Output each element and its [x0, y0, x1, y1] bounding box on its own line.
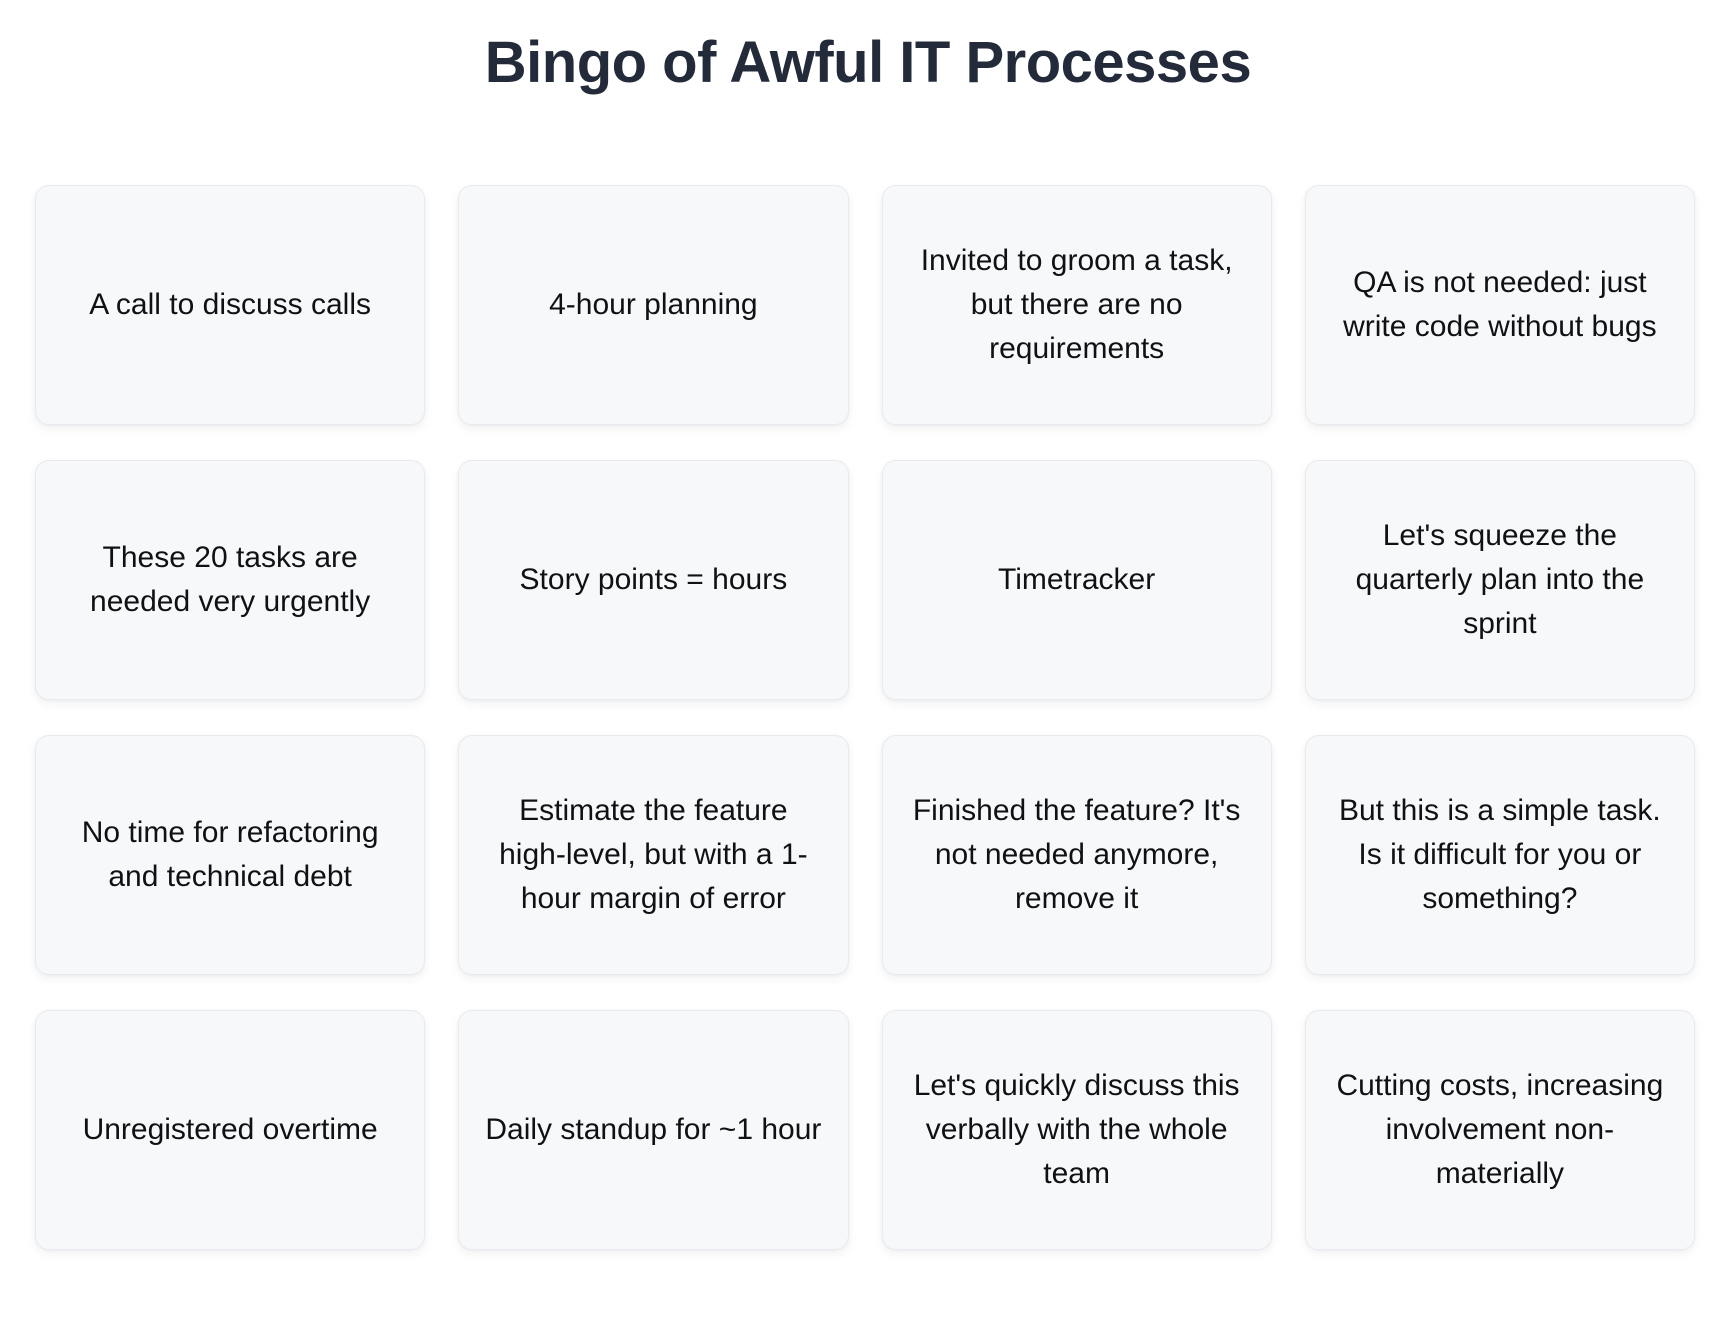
bingo-cell-label: Invited to groom a task, but there are n… — [909, 239, 1245, 370]
bingo-cell[interactable]: Cutting costs, increasing involvement no… — [1305, 1010, 1695, 1250]
bingo-grid: A call to discuss calls 4-hour planning … — [35, 185, 1695, 1250]
bingo-cell-label: Unregistered overtime — [62, 1108, 398, 1152]
bingo-cell-label: These 20 tasks are needed very urgently — [62, 536, 398, 624]
bingo-cell[interactable]: Daily standup for ~1 hour — [458, 1010, 848, 1250]
bingo-cell[interactable]: Timetracker — [882, 460, 1272, 700]
bingo-cell-label: Finished the feature? It's not needed an… — [909, 789, 1245, 920]
bingo-cell-label: Cutting costs, increasing involvement no… — [1332, 1064, 1668, 1195]
bingo-cell[interactable]: Finished the feature? It's not needed an… — [882, 735, 1272, 975]
bingo-cell-label: Estimate the feature high-level, but wit… — [485, 789, 821, 920]
bingo-cell[interactable]: 4-hour planning — [458, 185, 848, 425]
bingo-cell-label: A call to discuss calls — [62, 283, 398, 327]
bingo-cell-label: Let's squeeze the quarterly plan into th… — [1332, 514, 1668, 645]
page-title: Bingo of Awful IT Processes — [0, 0, 1736, 97]
bingo-cell-label: Daily standup for ~1 hour — [485, 1108, 821, 1152]
bingo-cell-label: Story points = hours — [485, 558, 821, 602]
bingo-cell[interactable]: QA is not needed: just write code withou… — [1305, 185, 1695, 425]
bingo-cell-label: Timetracker — [909, 558, 1245, 602]
bingo-cell[interactable]: Let's quickly discuss this verbally with… — [882, 1010, 1272, 1250]
bingo-cell[interactable]: These 20 tasks are needed very urgently — [35, 460, 425, 700]
bingo-cell[interactable]: Invited to groom a task, but there are n… — [882, 185, 1272, 425]
bingo-page: Bingo of Awful IT Processes A call to di… — [0, 0, 1736, 1326]
bingo-cell[interactable]: But this is a simple task. Is it difficu… — [1305, 735, 1695, 975]
bingo-cell[interactable]: Let's squeeze the quarterly plan into th… — [1305, 460, 1695, 700]
bingo-cell-label: No time for refactoring and technical de… — [62, 811, 398, 899]
bingo-cell[interactable]: Unregistered overtime — [35, 1010, 425, 1250]
bingo-cell-label: QA is not needed: just write code withou… — [1332, 261, 1668, 349]
bingo-cell[interactable]: Estimate the feature high-level, but wit… — [458, 735, 848, 975]
bingo-cell-label: But this is a simple task. Is it difficu… — [1332, 789, 1668, 920]
bingo-cell[interactable]: A call to discuss calls — [35, 185, 425, 425]
bingo-cell-label: 4-hour planning — [485, 283, 821, 327]
bingo-cell-label: Let's quickly discuss this verbally with… — [909, 1064, 1245, 1195]
bingo-cell[interactable]: No time for refactoring and technical de… — [35, 735, 425, 975]
bingo-cell[interactable]: Story points = hours — [458, 460, 848, 700]
